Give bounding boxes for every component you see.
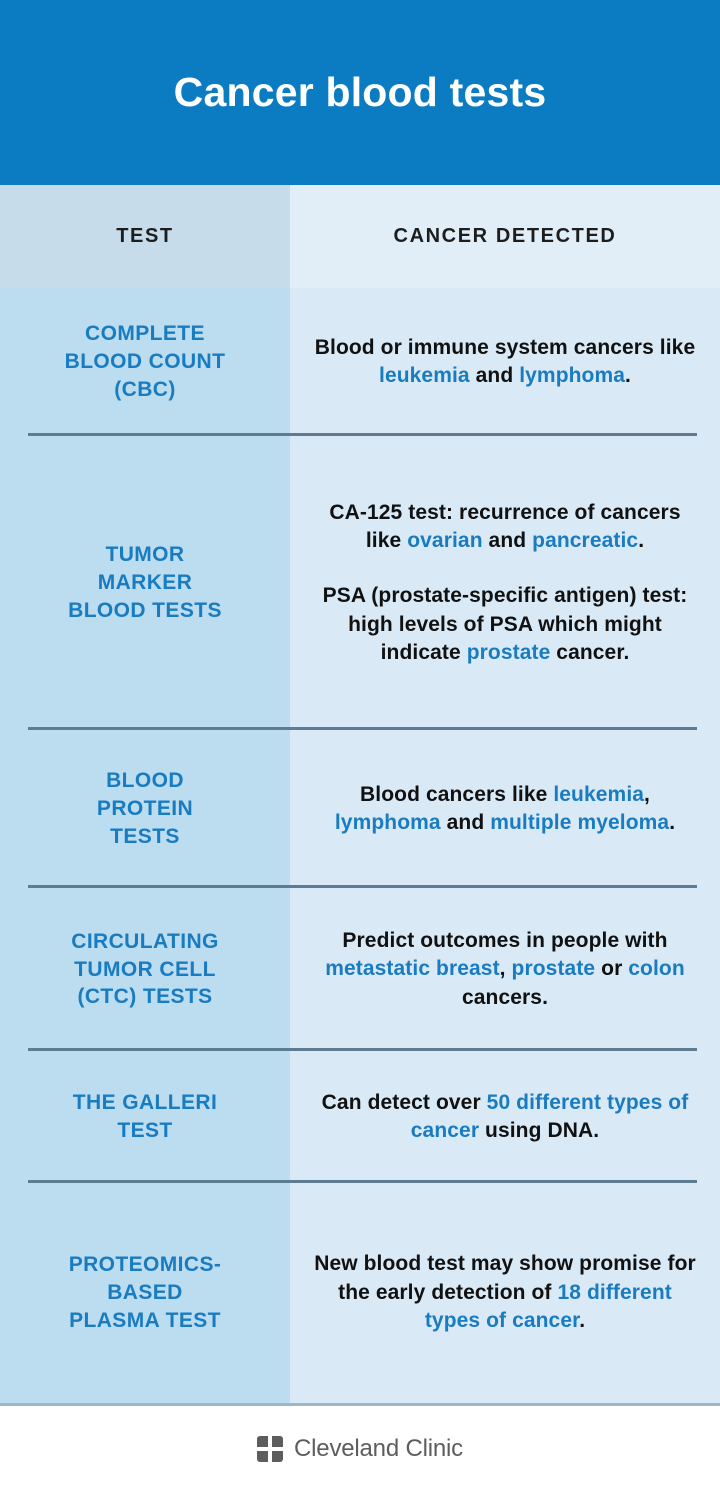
cancer-type-link[interactable]: metastatic breast	[325, 957, 499, 980]
cell-test-name: COMPLETEBLOOD COUNT(CBC)	[0, 288, 290, 436]
header-cell-test: TEST	[0, 185, 290, 288]
comparison-table: TEST CANCER DETECTED COMPLETEBLOOD COUNT…	[0, 185, 720, 1406]
cell-test-name: BLOODPROTEINTESTS	[0, 730, 290, 888]
cell-cancer-detected: Can detect over 50 different types of ca…	[290, 1051, 720, 1183]
page-title: Cancer blood tests	[174, 70, 547, 115]
paragraph-text: .	[669, 811, 675, 834]
cancer-detected-paragraph: PSA (prostate-specific antigen) test: hi…	[314, 582, 696, 667]
cell-test-name: PROTEOMICS-BASEDPLASMA TEST	[0, 1183, 290, 1403]
paragraph-text: .	[579, 1309, 585, 1332]
paragraph-text: .	[625, 364, 631, 387]
cell-test-name: TUMORMARKERBLOOD TESTS	[0, 436, 290, 730]
cancer-type-link[interactable]: lymphoma	[335, 811, 441, 834]
cancer-type-link[interactable]: prostate	[512, 957, 596, 980]
cancer-detected-paragraph: Blood cancers like leukemia, lymphoma an…	[314, 781, 696, 838]
test-name-label: PROTEOMICS-BASEDPLASMA TEST	[69, 1251, 222, 1335]
cell-test-name: CIRCULATINGTUMOR CELL(CTC) TESTS	[0, 888, 290, 1051]
cancer-detected-paragraph: Can detect over 50 different types of ca…	[314, 1089, 696, 1146]
paragraph-text: and	[441, 811, 491, 834]
title-banner: Cancer blood tests	[0, 0, 720, 185]
paragraph-text: Predict outcomes in people with	[342, 929, 667, 952]
row-divider	[28, 433, 697, 436]
cell-cancer-detected: New blood test may show promise for the …	[290, 1183, 720, 1403]
cancer-type-link[interactable]: lymphoma	[519, 364, 625, 387]
paragraph-text: Blood or immune system cancers like	[315, 336, 695, 359]
footer: Cleveland Clinic	[0, 1406, 720, 1489]
test-name-label: BLOODPROTEINTESTS	[97, 767, 193, 851]
paragraph-text: and	[470, 364, 520, 387]
cancer-detected-paragraph: Blood or immune system cancers like leuk…	[314, 334, 696, 391]
test-name-label: TUMORMARKERBLOOD TESTS	[68, 541, 222, 625]
paragraph-text: using DNA.	[479, 1119, 599, 1142]
cancer-detected-paragraph: CA-125 test: recurrence of cancers like …	[314, 499, 696, 556]
header-cell-cancer-detected: CANCER DETECTED	[290, 185, 720, 288]
row-divider	[28, 885, 697, 888]
row-divider	[28, 1180, 697, 1183]
paragraph-text: or	[595, 957, 628, 980]
row-divider	[28, 1048, 697, 1051]
cell-cancer-detected: CA-125 test: recurrence of cancers like …	[290, 436, 720, 730]
paragraph-text: ,	[500, 957, 512, 980]
cancer-type-link[interactable]: leukemia	[379, 364, 470, 387]
cancer-type-link[interactable]: prostate	[467, 641, 551, 664]
paragraph-text: and	[483, 529, 533, 552]
paragraph-text: .	[638, 529, 644, 552]
paragraph-text: cancer.	[550, 641, 629, 664]
test-name-label: CIRCULATINGTUMOR CELL(CTC) TESTS	[71, 928, 219, 1012]
cancer-type-link[interactable]: colon	[628, 957, 685, 980]
row-divider	[28, 727, 697, 730]
paragraph-text: cancers.	[462, 986, 548, 1009]
table-header-row: TEST CANCER DETECTED	[0, 185, 720, 288]
table-row: PROTEOMICS-BASEDPLASMA TESTNew blood tes…	[0, 1183, 720, 1403]
test-name-label: COMPLETEBLOOD COUNT(CBC)	[65, 320, 226, 404]
cell-cancer-detected: Blood or immune system cancers like leuk…	[290, 288, 720, 436]
table-row: CIRCULATINGTUMOR CELL(CTC) TESTSPredict …	[0, 888, 720, 1051]
table-row: TUMORMARKERBLOOD TESTSCA-125 test: recur…	[0, 436, 720, 730]
table-body: COMPLETEBLOOD COUNT(CBC)Blood or immune …	[0, 288, 720, 1403]
brand-name: Cleveland Clinic	[294, 1435, 463, 1463]
cell-test-name: THE GALLERITEST	[0, 1051, 290, 1183]
paragraph-text: Can detect over	[322, 1091, 487, 1114]
table-row: BLOODPROTEINTESTSBlood cancers like leuk…	[0, 730, 720, 888]
table-row: THE GALLERITESTCan detect over 50 differ…	[0, 1051, 720, 1183]
cancer-type-link[interactable]: pancreatic	[532, 529, 638, 552]
cleveland-clinic-logo-icon	[257, 1436, 283, 1462]
cell-cancer-detected: Blood cancers like leukemia, lymphoma an…	[290, 730, 720, 888]
cancer-type-link[interactable]: multiple myeloma	[490, 811, 669, 834]
paragraph-text: ,	[644, 783, 650, 806]
table-row: COMPLETEBLOOD COUNT(CBC)Blood or immune …	[0, 288, 720, 436]
cell-cancer-detected: Predict outcomes in people with metastat…	[290, 888, 720, 1051]
header-label-cancer-detected: CANCER DETECTED	[394, 225, 617, 248]
cancer-type-link[interactable]: ovarian	[407, 529, 482, 552]
cancer-type-link[interactable]: leukemia	[553, 783, 644, 806]
header-label-test: TEST	[116, 225, 174, 248]
paragraph-text: Blood cancers like	[360, 783, 553, 806]
test-name-label: THE GALLERITEST	[73, 1089, 217, 1145]
cancer-detected-paragraph: Predict outcomes in people with metastat…	[314, 927, 696, 1012]
cancer-blood-tests-infographic: Cancer blood tests TEST CANCER DETECTED …	[0, 0, 720, 1489]
cancer-detected-paragraph: New blood test may show promise for the …	[314, 1250, 696, 1335]
